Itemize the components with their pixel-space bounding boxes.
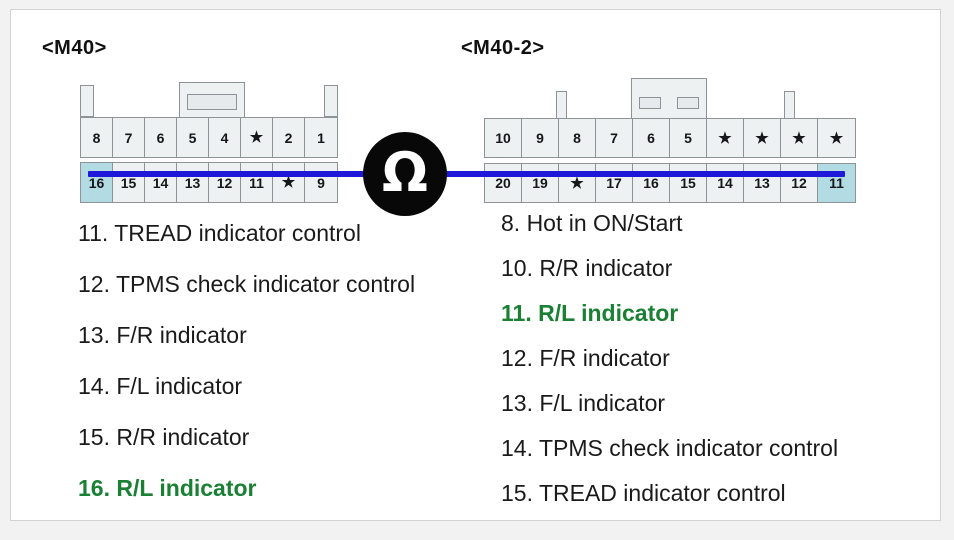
left-bottom-pin-12: 12 <box>209 163 241 202</box>
right-top-pin-blank-8: ★ <box>781 119 818 157</box>
ohm-icon: Ω <box>363 132 447 216</box>
left-top-pin-blank-5: ★ <box>241 118 273 157</box>
right-connector-top-row: 1098765★★★★ <box>484 118 856 158</box>
left-bottom-pin-15: 15 <box>113 163 145 202</box>
pin-label: 14 <box>717 175 733 191</box>
left-bottom-pin-11: 11 <box>241 163 273 202</box>
left-legend-item: 11. TREAD indicator control <box>78 222 415 245</box>
right-bottom-pin-15: 15 <box>670 164 707 202</box>
right-legend-item: 14. TPMS check indicator control <box>501 437 838 460</box>
right-top-pin-8: 8 <box>559 119 596 157</box>
right-connector: 1098765★★★★ 2019★17161514131211 <box>484 85 856 197</box>
right-legend-item: 12. F/R indicator <box>501 347 838 370</box>
pin-label: 13 <box>754 175 770 191</box>
pin-label: 6 <box>647 130 655 146</box>
left-connector-latch-right <box>324 85 338 117</box>
pin-label: ★ <box>282 175 295 190</box>
wire-segment-right <box>408 171 845 177</box>
right-connector-bottom-row: 2019★17161514131211 <box>484 163 856 203</box>
right-bottom-pin-14: 14 <box>707 164 744 202</box>
left-top-pin-6: 6 <box>145 118 177 157</box>
left-connector-title: <M40> <box>42 37 107 60</box>
right-bottom-pin-12: 12 <box>781 164 818 202</box>
pin-label: 17 <box>606 175 622 191</box>
left-connector-latch-left <box>80 85 94 117</box>
left-bottom-pin-blank-6: ★ <box>273 163 305 202</box>
left-top-pin-8: 8 <box>81 118 113 157</box>
pin-label: ★ <box>718 131 731 146</box>
right-connector-lock-inner-right <box>677 97 699 109</box>
right-bottom-pin-16: 16 <box>633 164 670 202</box>
pin-label: 4 <box>221 130 229 146</box>
pin-label: 12 <box>791 175 807 191</box>
right-legend-item: 13. F/L indicator <box>501 392 838 415</box>
right-bottom-pin-20: 20 <box>485 164 522 202</box>
left-connector-bottom-row: 161514131211★9 <box>80 162 338 203</box>
pin-label: ★ <box>570 176 583 191</box>
pin-label: 15 <box>680 175 696 191</box>
right-bottom-pin-11: 11 <box>818 164 855 202</box>
pin-label: 5 <box>189 130 197 146</box>
ohm-glyph: Ω <box>382 146 428 200</box>
left-connector-lock-inner <box>187 94 237 110</box>
left-connector-legend: 11. TREAD indicator control12. TPMS chec… <box>78 222 415 528</box>
right-legend-item: 8. Hot in ON/Start <box>501 212 838 235</box>
right-connector-title: <M40-2> <box>461 37 545 60</box>
diagram-canvas: <M40> 87654★21 161514131211★9 <M40-2> 10… <box>0 0 954 540</box>
right-legend-item: 10. R/R indicator <box>501 257 838 280</box>
pin-label: 16 <box>643 175 659 191</box>
right-connector-legend: 8. Hot in ON/Start10. R/R indicator11. R… <box>501 212 838 527</box>
left-legend-item: 13. F/R indicator <box>78 324 415 347</box>
left-top-pin-7: 7 <box>113 118 145 157</box>
left-bottom-pin-14: 14 <box>145 163 177 202</box>
right-connector-latch-right <box>784 91 795 119</box>
left-top-pin-1: 1 <box>305 118 337 157</box>
left-legend-item: 14. F/L indicator <box>78 375 415 398</box>
pin-label: 10 <box>495 130 511 146</box>
left-top-pin-2: 2 <box>273 118 305 157</box>
left-legend-item: 15. R/R indicator <box>78 426 415 449</box>
right-bottom-pin-19: 19 <box>522 164 559 202</box>
wire-segment-left <box>88 171 408 177</box>
pin-label: 1 <box>317 130 325 146</box>
pin-label: 5 <box>684 130 692 146</box>
pin-label: 8 <box>93 130 101 146</box>
pin-label: ★ <box>755 131 768 146</box>
pin-label: ★ <box>250 130 263 145</box>
pin-label: 7 <box>610 130 618 146</box>
left-bottom-pin-16: 16 <box>81 163 113 202</box>
right-top-pin-7: 7 <box>596 119 633 157</box>
right-legend-item: 15. TREAD indicator control <box>501 482 838 505</box>
right-top-pin-blank-7: ★ <box>744 119 781 157</box>
pin-label: 19 <box>532 175 548 191</box>
right-bottom-pin-13: 13 <box>744 164 781 202</box>
right-top-pin-5: 5 <box>670 119 707 157</box>
right-top-pin-blank-9: ★ <box>818 119 855 157</box>
pin-label: 9 <box>536 130 544 146</box>
left-top-pin-4: 4 <box>209 118 241 157</box>
right-legend-item: 11. R/L indicator <box>501 302 838 325</box>
left-bottom-pin-13: 13 <box>177 163 209 202</box>
left-legend-item: 16. R/L indicator <box>78 477 415 500</box>
right-bottom-pin-17: 17 <box>596 164 633 202</box>
pin-label: 20 <box>495 175 511 191</box>
right-connector-latch-left <box>556 91 567 119</box>
pin-label: 6 <box>157 130 165 146</box>
right-bottom-pin-blank-2: ★ <box>559 164 596 202</box>
left-top-pin-5: 5 <box>177 118 209 157</box>
right-top-pin-9: 9 <box>522 119 559 157</box>
pin-label: 8 <box>573 130 581 146</box>
right-top-pin-blank-6: ★ <box>707 119 744 157</box>
left-connector: 87654★21 161514131211★9 <box>80 85 338 197</box>
pin-label: ★ <box>830 131 843 146</box>
left-legend-item: 12. TPMS check indicator control <box>78 273 415 296</box>
right-connector-lock-inner-left <box>639 97 661 109</box>
pin-label: 2 <box>285 130 293 146</box>
pin-label: ★ <box>792 131 805 146</box>
right-top-pin-10: 10 <box>485 119 522 157</box>
pin-label: 7 <box>125 130 133 146</box>
right-top-pin-6: 6 <box>633 119 670 157</box>
left-connector-top-row: 87654★21 <box>80 117 338 158</box>
pin-label: 11 <box>829 175 844 191</box>
left-bottom-pin-9: 9 <box>305 163 337 202</box>
